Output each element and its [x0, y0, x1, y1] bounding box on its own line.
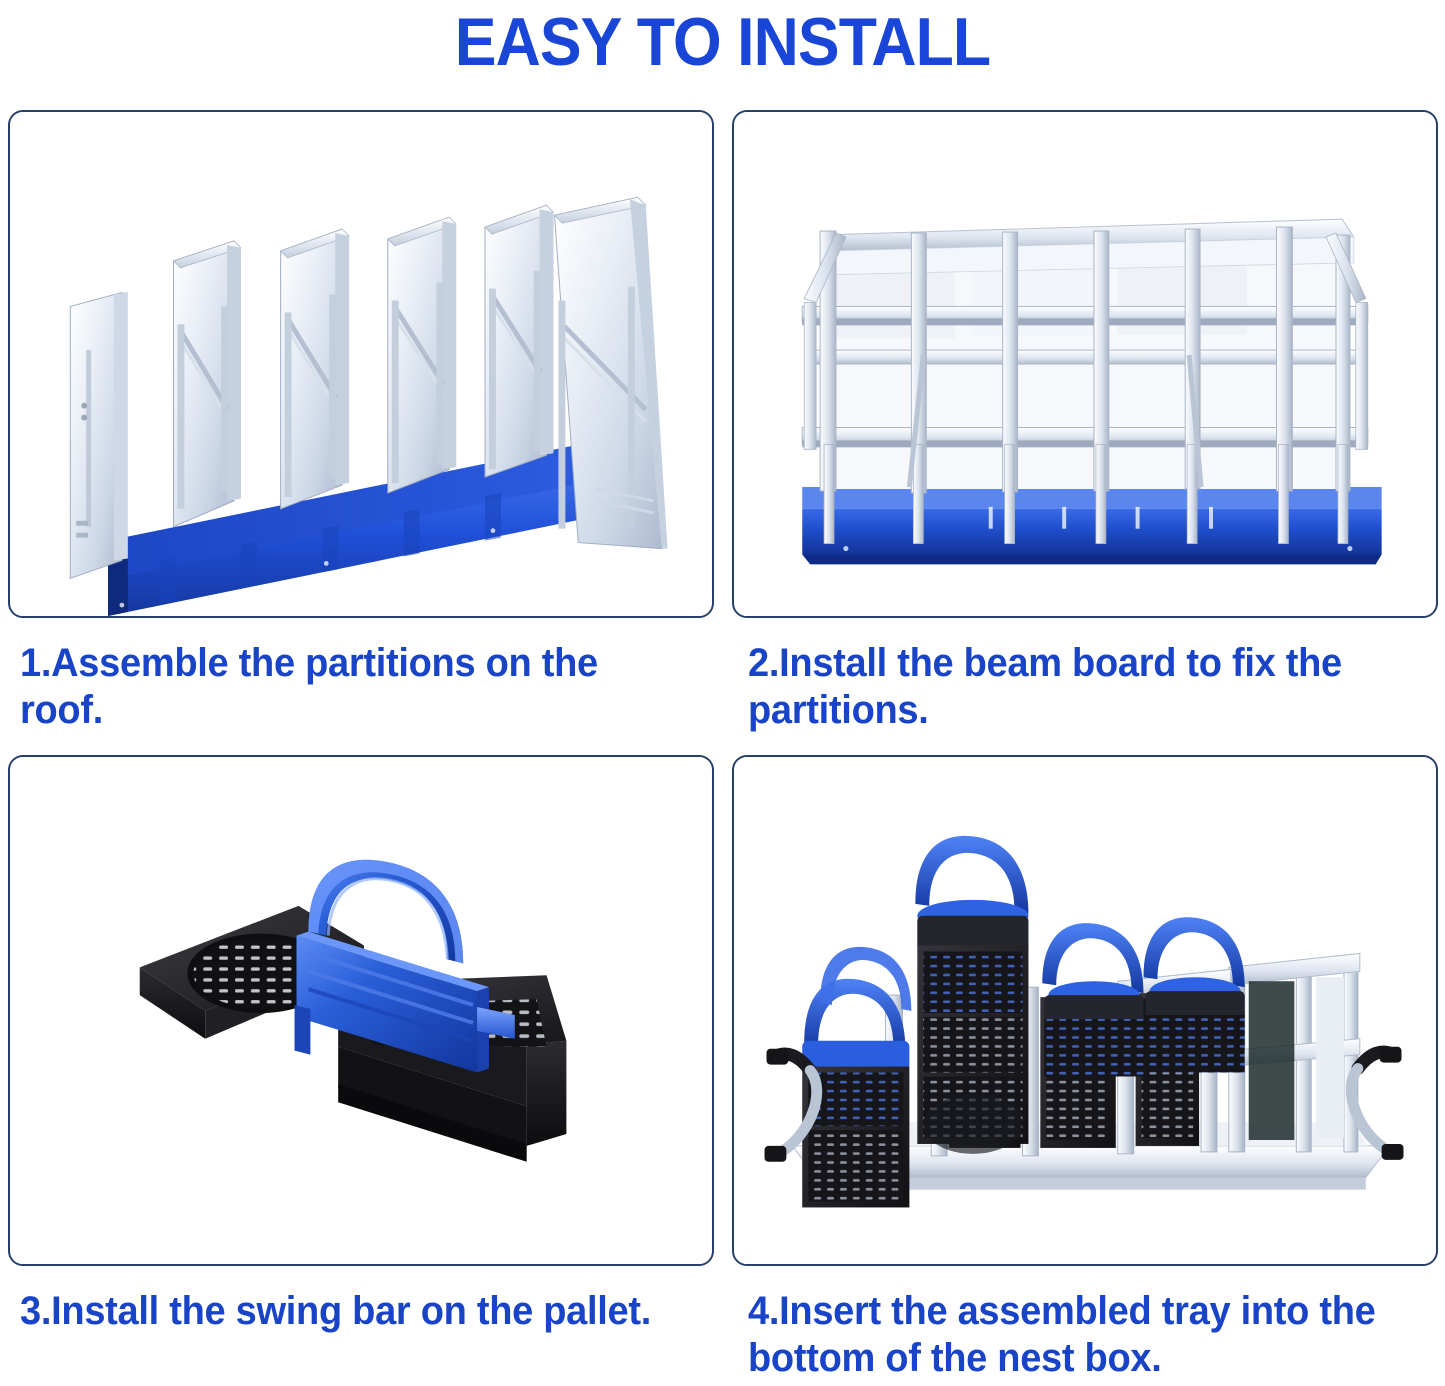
step-2-image-panel: [732, 110, 1438, 618]
swing-bar-pallet-photo: [10, 757, 712, 1264]
step-1-image-panel: [8, 110, 714, 618]
partition-panel: [173, 241, 240, 527]
partition-panel-end: [70, 292, 128, 579]
step-4-image-panel: [732, 755, 1438, 1266]
step-4-caption: 4.Insert the assembled tray into the bot…: [748, 1288, 1413, 1382]
partitions-on-roof-photo: [10, 112, 712, 616]
insert-tray-nest-box-photo: [734, 757, 1436, 1264]
partition-panel: [485, 205, 553, 477]
beam-board-frame-photo: [734, 112, 1436, 616]
step-3-caption: 3.Install the swing bar on the pallet.: [20, 1288, 676, 1335]
step-3-image-panel: [8, 755, 714, 1266]
step-2-caption: 2.Install the beam board to fix the part…: [748, 640, 1413, 734]
partition-panel: [281, 229, 349, 509]
partition-panel: [388, 217, 456, 493]
infographic-page: EASY TO INSTALL: [0, 0, 1445, 1386]
step-1-caption: 1.Assemble the partitions on the roof.: [20, 640, 676, 734]
blue-base-rail: [802, 487, 1381, 564]
page-title: EASY TO INSTALL: [58, 2, 1387, 82]
